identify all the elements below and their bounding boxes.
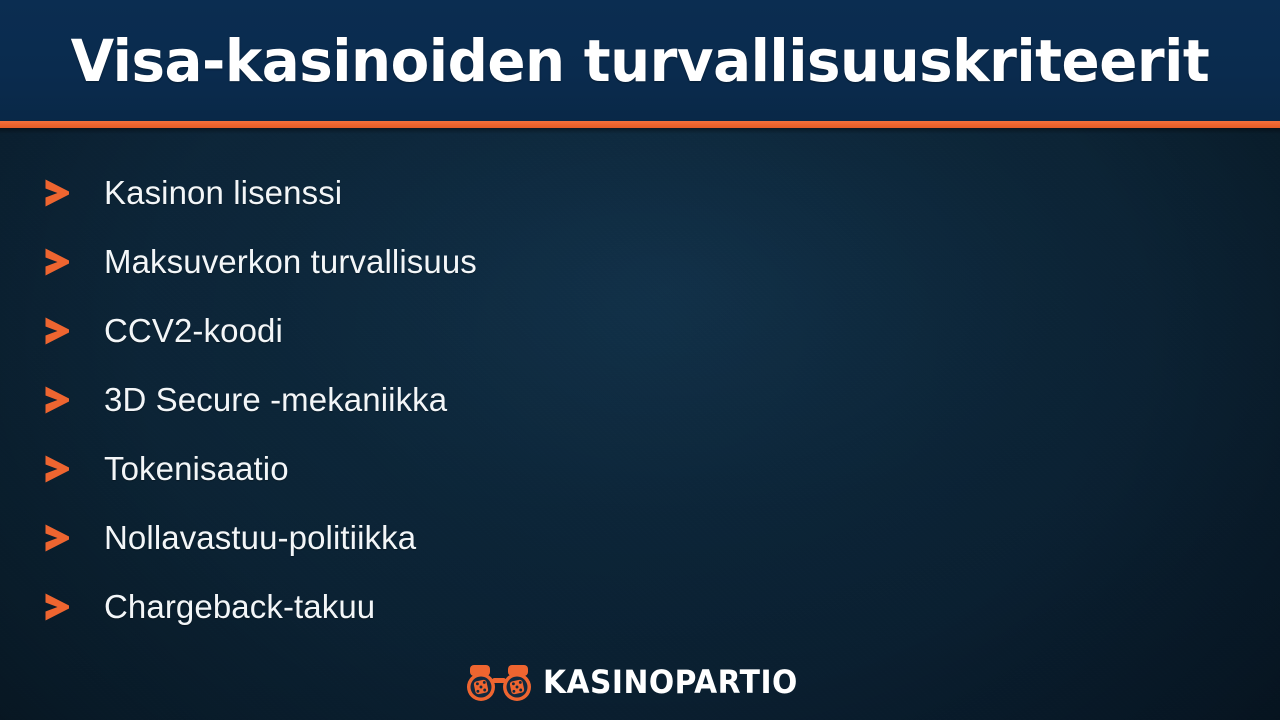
list-item-label: Kasinon lisenssi	[104, 176, 342, 209]
brand-logo: KASINOPARTIO	[0, 658, 1280, 706]
header-accent-rule	[0, 121, 1280, 128]
list-item: Nollavastuu-politiikka	[44, 503, 944, 572]
list-item: CCV2-koodi	[44, 296, 944, 365]
list-item-label: Maksuverkon turvallisuus	[104, 245, 477, 278]
list-item: Chargeback-takuu	[44, 572, 944, 641]
chevron-right-icon	[44, 523, 70, 553]
chevron-right-icon	[44, 592, 70, 622]
list-item: Kasinon lisenssi	[44, 158, 944, 227]
slide-root: Visa-kasinoiden turvallisuuskriteerit Ka…	[0, 0, 1280, 720]
chevron-right-icon	[44, 454, 70, 484]
header-accent-rule-shadow	[0, 128, 1280, 134]
slide-header: Visa-kasinoiden turvallisuuskriteerit	[0, 0, 1280, 121]
brand-logo-text: KASINOPARTIO	[543, 666, 798, 698]
list-item-label: CCV2-koodi	[104, 314, 283, 347]
list-item-label: 3D Secure -mekaniikka	[104, 383, 447, 416]
chevron-right-icon	[44, 316, 70, 346]
list-item-label: Nollavastuu-politiikka	[104, 521, 416, 554]
list-item-label: Tokenisaatio	[104, 452, 289, 485]
list-item: 3D Secure -mekaniikka	[44, 365, 944, 434]
list-item: Maksuverkon turvallisuus	[44, 227, 944, 296]
list-item-label: Chargeback-takuu	[104, 590, 375, 623]
list-item: Tokenisaatio	[44, 434, 944, 503]
chevron-right-icon	[44, 178, 70, 208]
chevron-right-icon	[44, 247, 70, 277]
page-title: Visa-kasinoiden turvallisuuskriteerit	[71, 32, 1210, 90]
binoculars-dice-icon	[464, 662, 534, 702]
chevron-right-icon	[44, 385, 70, 415]
criteria-list: Kasinon lisenssi Maksuverkon turvallisuu…	[44, 158, 944, 641]
